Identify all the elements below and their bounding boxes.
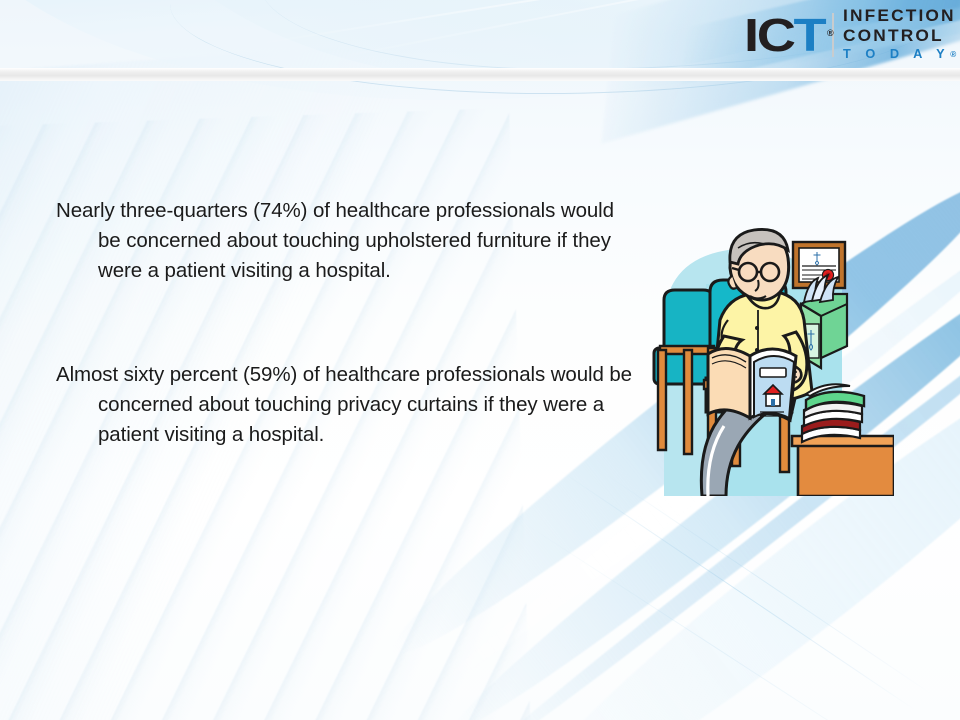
statistic-paragraph-furniture: Nearly three-quarters (74%) of healthcar… — [56, 196, 636, 286]
logo-wordmark-lines: INFECTION CONTROL T O D A Y® — [843, 7, 954, 63]
slide-canvas: ICT® INFECTION CONTROL T O D A Y® Nearly… — [0, 0, 960, 720]
man-head — [728, 229, 788, 300]
ict-wordmark: ICT® — [744, 12, 824, 58]
ict-mark-t: T — [794, 9, 825, 61]
framed-diploma — [793, 242, 845, 288]
ict-logo[interactable]: ICT® INFECTION CONTROL T O D A Y® — [744, 7, 954, 63]
logo-line-infection: INFECTION — [843, 7, 956, 24]
trademark-icon: ® — [828, 10, 833, 56]
header-divider-band — [0, 68, 960, 81]
body-copy: Nearly three-quarters (74%) of healthcar… — [56, 196, 636, 450]
ict-mark-ic: IC — [744, 9, 794, 61]
logo-line-control: CONTROL — [843, 27, 956, 44]
logo-separator-rule — [832, 13, 834, 57]
registered-icon: ® — [950, 50, 956, 59]
logo-today-text: T O D A Y — [843, 47, 950, 61]
open-magazine — [708, 348, 796, 420]
statistic-paragraph-curtains: Almost sixty percent (59%) of healthcare… — [56, 360, 636, 450]
logo-line-today: T O D A Y® — [843, 48, 956, 63]
magazine-stack — [802, 384, 864, 442]
side-table — [792, 384, 894, 496]
waiting-room-illustration — [646, 228, 894, 496]
